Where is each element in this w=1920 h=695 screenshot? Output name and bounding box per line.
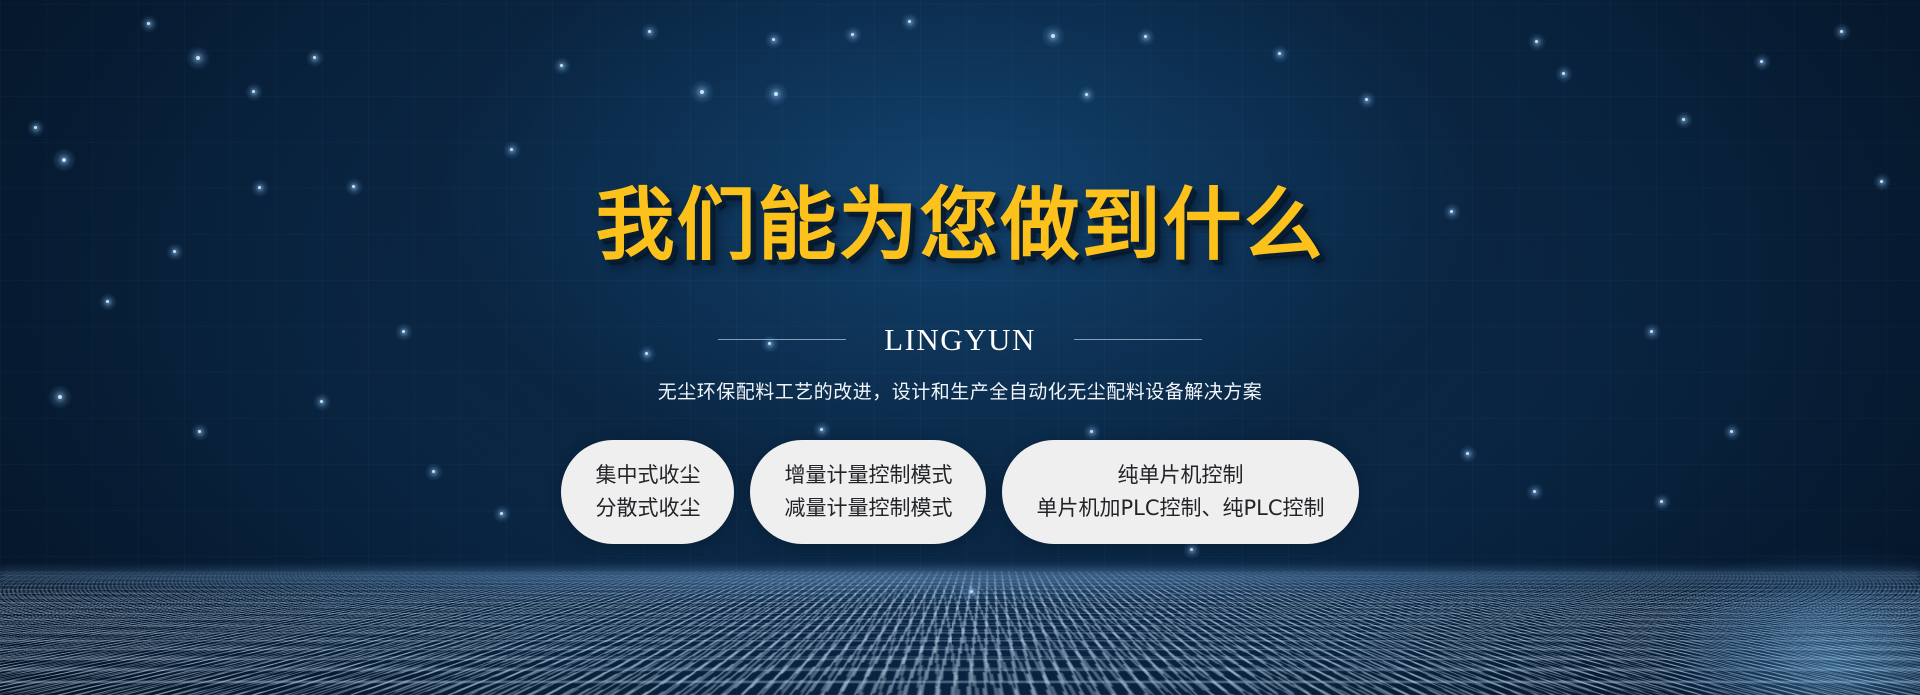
pill-line: 集中式收尘 (595, 465, 700, 486)
banner-content: 我们能为您做到什么 LINGYUN 无尘环保配料工艺的改进，设计和生产全自动化无… (0, 0, 1920, 695)
divider-line-right (1074, 339, 1202, 340)
feature-pill-group: 集中式收尘 分散式收尘 增量计量控制模式 减量计量控制模式 纯单片机控制 单片机… (0, 440, 1920, 544)
pill-line: 分散式收尘 (595, 498, 700, 519)
hero-banner: 我们能为您做到什么 LINGYUN 无尘环保配料工艺的改进，设计和生产全自动化无… (0, 0, 1920, 695)
pill-line: 纯单片机控制 (1118, 465, 1244, 486)
brand-name: LINGYUN (884, 324, 1036, 355)
pill-line: 减量计量控制模式 (784, 498, 952, 519)
pill-line: 单片机加PLC控制、纯PLC控制 (1036, 498, 1324, 519)
divider-line-left (718, 339, 846, 340)
page-title: 我们能为您做到什么 (0, 186, 1920, 265)
tagline: 无尘环保配料工艺的改进，设计和生产全自动化无尘配料设备解决方案 (0, 381, 1920, 404)
feature-pill-metering-control-mode[interactable]: 增量计量控制模式 减量计量控制模式 (750, 440, 986, 544)
feature-pill-controller-architecture[interactable]: 纯单片机控制 单片机加PLC控制、纯PLC控制 (1002, 440, 1358, 544)
feature-pill-dust-collection[interactable]: 集中式收尘 分散式收尘 (561, 440, 734, 544)
pill-line: 增量计量控制模式 (784, 465, 952, 486)
brand-eyebrow-row: LINGYUN (0, 324, 1920, 355)
